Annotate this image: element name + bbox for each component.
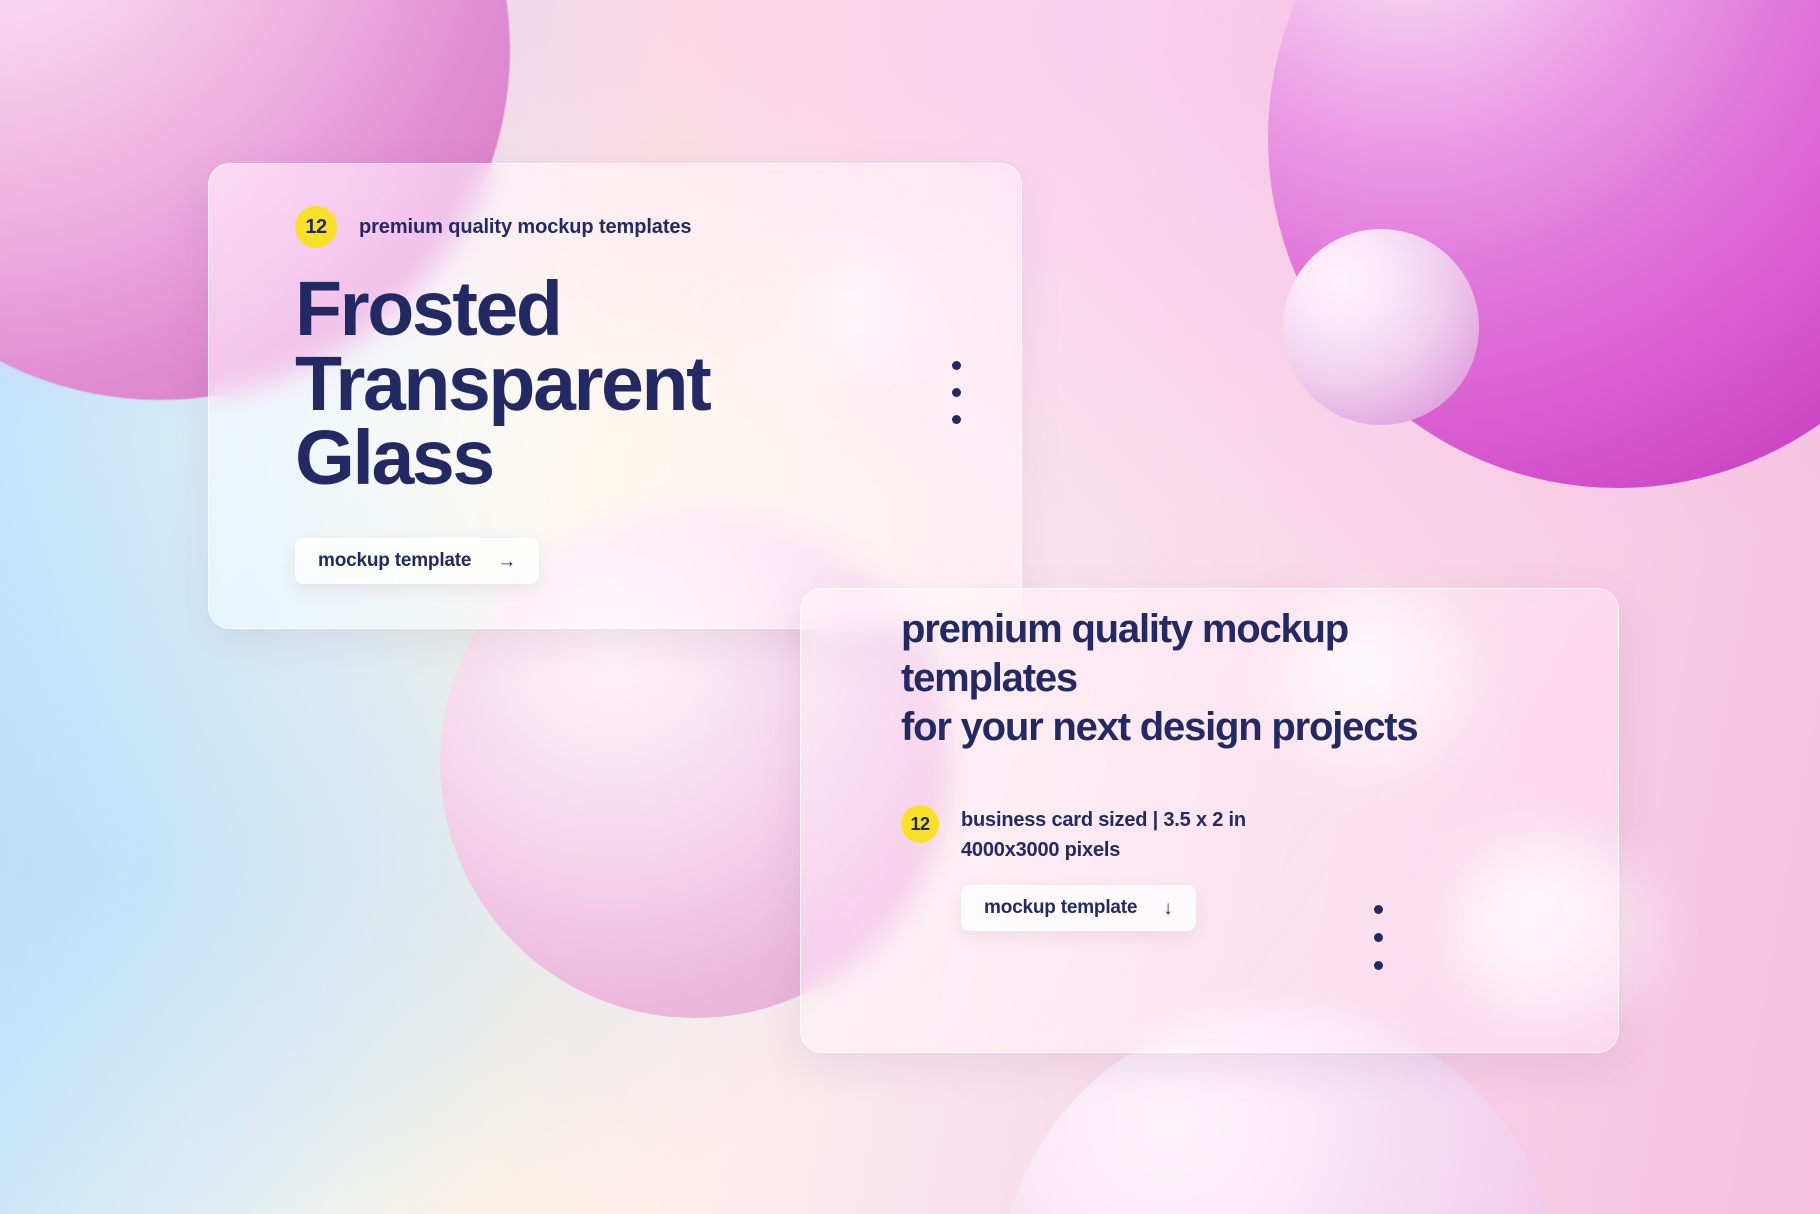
meta-line-size: business card sized | 3.5 x 2 in: [961, 805, 1246, 835]
card-one-eyebrow-row: 12 premium quality mockup templates: [295, 206, 709, 248]
decorative-sphere-small: [1283, 229, 1479, 425]
dot-icon: [952, 361, 961, 370]
card-one-headline: Frosted Transparent Glass: [295, 272, 709, 496]
arrow-down-icon: ↓: [1163, 899, 1173, 918]
card-two-headline-line-2: templates: [901, 654, 1417, 703]
card-two-content: premium quality mockup templates for you…: [901, 605, 1417, 931]
mockup-template-button[interactable]: mockup template →: [295, 538, 539, 584]
card-two-dots-indicator[interactable]: [1374, 905, 1383, 970]
mockup-template-download-button[interactable]: mockup template ↓: [961, 885, 1196, 931]
card-two-meta-row: 12 business card sized | 3.5 x 2 in 4000…: [901, 805, 1417, 865]
card-two-headline-line-3: for your next design projects: [901, 703, 1417, 752]
mockup-template-download-button-label: mockup template: [984, 897, 1137, 919]
card-two-button-wrap: mockup template ↓: [961, 885, 1417, 931]
meta-line-pixels: 4000x3000 pixels: [961, 835, 1246, 865]
card-one-content: 12 premium quality mockup templates Fros…: [295, 206, 709, 584]
dot-icon: [1374, 905, 1383, 914]
dot-icon: [952, 415, 961, 424]
card-two-meta-text: business card sized | 3.5 x 2 in 4000x30…: [961, 805, 1246, 865]
headline-line-2: Transparent: [295, 347, 709, 422]
glass-card-primary: 12 premium quality mockup templates Fros…: [208, 163, 1022, 629]
headline-line-1: Frosted: [295, 272, 709, 347]
card-one-eyebrow-text: premium quality mockup templates: [359, 216, 691, 239]
dot-icon: [1374, 961, 1383, 970]
glass-card-secondary: premium quality mockup templates for you…: [800, 588, 1619, 1053]
card-one-dots-indicator[interactable]: [952, 361, 961, 424]
count-badge: 12: [295, 206, 337, 248]
card-two-headline-line-1: premium quality mockup: [901, 605, 1417, 654]
mockup-template-button-label: mockup template: [318, 550, 471, 572]
dot-icon: [1374, 933, 1383, 942]
mockup-canvas: 12 premium quality mockup templates Fros…: [0, 0, 1820, 1214]
card-two-headline: premium quality mockup templates for you…: [901, 605, 1417, 751]
arrow-right-icon: →: [497, 552, 516, 571]
count-badge: 12: [901, 805, 939, 843]
headline-line-3: Glass: [295, 421, 709, 496]
dot-icon: [952, 388, 961, 397]
card-one-button-wrap: mockup template →: [295, 538, 709, 584]
